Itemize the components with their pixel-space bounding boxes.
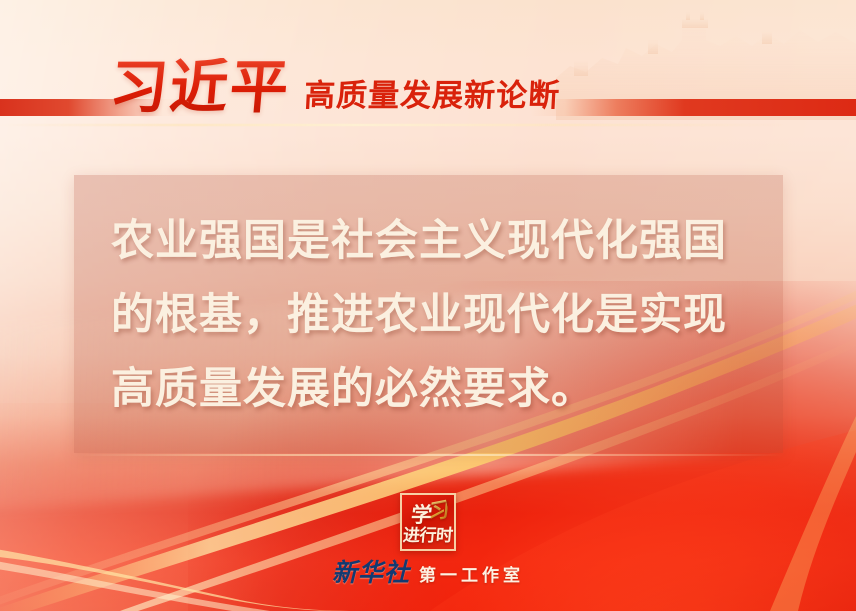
agency-name: 新华社	[332, 560, 410, 585]
poster-canvas: 习近平 高质量发展新论断 农业强国是社会主义现代化强国 的根基，推进农业现代化是…	[0, 0, 856, 611]
badge-char-xi: 习	[425, 498, 450, 523]
badge-top-row: 学 习	[402, 501, 454, 527]
header-gold-hairline	[0, 124, 856, 126]
page-subtitle: 高质量发展新论断	[303, 81, 561, 116]
footer-lockup: 学 习 进行时 新华社 第一工作室	[0, 493, 856, 585]
quote-text: 农业强国是社会主义现代化强国 的根基，推进农业现代化是实现 高质量发展的必然要求…	[111, 204, 751, 426]
agency-studio: 第一工作室	[419, 568, 524, 585]
quote-panel: 农业强国是社会主义现代化强国 的根基，推进农业现代化是实现 高质量发展的必然要求…	[74, 175, 783, 453]
agency-line: 新华社 第一工作室	[332, 560, 524, 585]
xuexi-jinxingshi-badge[interactable]: 学 习 进行时	[400, 493, 456, 551]
title-row: 习近平 高质量发展新论断	[110, 58, 560, 116]
page-title-name: 习近平	[107, 58, 292, 116]
badge-bottom-row: 进行时	[402, 528, 453, 545]
